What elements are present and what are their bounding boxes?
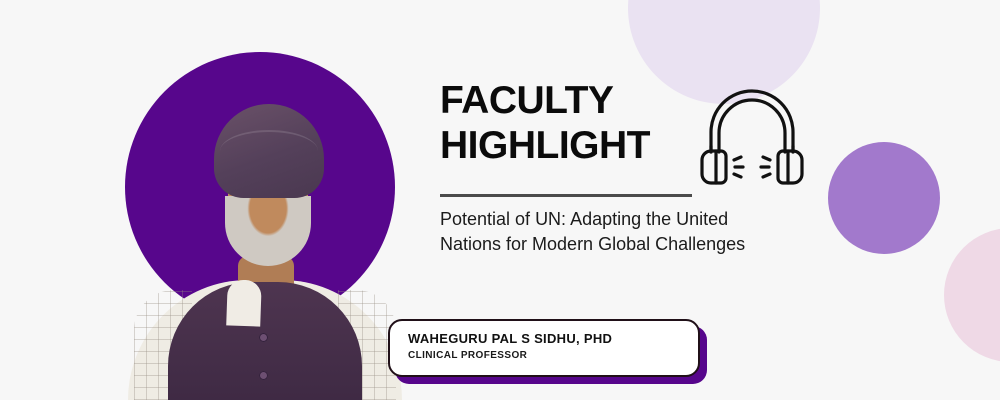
title-line-1: FACULTY: [440, 78, 650, 123]
portrait: [110, 0, 420, 400]
speaker-name-card: WAHEGURU PAL S SIDHU, PHD CLINICAL PROFE…: [388, 319, 700, 377]
speaker-role: CLINICAL PROFESSOR: [408, 350, 698, 361]
photo-collar: [226, 279, 262, 326]
photo-turban: [214, 104, 324, 198]
speaker-name: WAHEGURU PAL S SIDHU, PHD: [408, 331, 698, 346]
faculty-highlight-banner: FACULTY HIGHLIGHT Po: [0, 0, 1000, 400]
speaker-photo: [110, 0, 420, 400]
photo-vest-button-top: [259, 333, 268, 342]
title-line-2: HIGHLIGHT: [440, 123, 650, 168]
photo-vest-button-bottom: [259, 371, 268, 380]
headphones-icon: [697, 86, 807, 186]
page-title: FACULTY HIGHLIGHT: [440, 78, 650, 168]
session-subtitle: Potential of UN: Adapting the United Nat…: [440, 207, 750, 257]
pink-circle-bottom: [944, 228, 1000, 362]
photo-beard: [225, 196, 311, 266]
purple-circle-middle: [828, 142, 940, 254]
title-divider: [440, 194, 692, 197]
